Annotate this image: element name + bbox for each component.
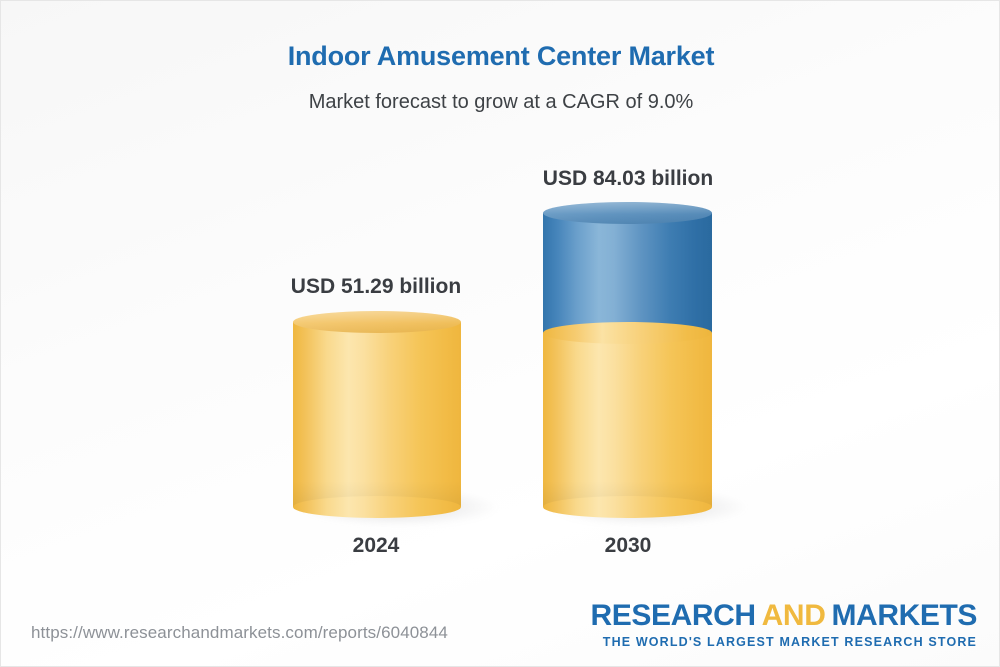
logo-word-research: RESEARCH xyxy=(591,599,756,632)
bar-category-label-2024: 2024 xyxy=(276,534,476,558)
chart-canvas: Indoor Amusement Center Market Market fo… xyxy=(0,0,1000,667)
bar-bottom-cap-2024 xyxy=(293,496,461,518)
report-url[interactable]: https://www.researchandmarkets.com/repor… xyxy=(31,623,448,643)
bar-value-label-2024: USD 51.29 billion xyxy=(256,275,496,299)
bar-body-lower-2030 xyxy=(543,333,712,507)
logo-word-markets: MARKETS xyxy=(831,599,977,632)
bar-top-cap-2030 xyxy=(543,202,712,224)
bar-category-label-2030: 2030 xyxy=(528,534,728,558)
logo-tagline: THE WORLD'S LARGEST MARKET RESEARCH STOR… xyxy=(591,635,977,649)
logo-wordmark: RESEARCHANDMARKETS xyxy=(591,601,977,631)
bar-segment-divider-2030 xyxy=(543,322,712,344)
bar-body-2024 xyxy=(293,322,461,507)
research-and-markets-logo[interactable]: RESEARCHANDMARKETS THE WORLD'S LARGEST M… xyxy=(591,601,977,649)
bar-value-label-2030: USD 84.03 billion xyxy=(506,167,750,191)
logo-word-and: AND xyxy=(762,599,826,632)
bar-top-cap-sheen-2030 xyxy=(543,202,712,224)
bar-bottom-cap-2030 xyxy=(543,496,712,518)
bar-body-upper-2030 xyxy=(543,213,712,333)
bar-top-cap-2024 xyxy=(293,311,461,333)
bar-top-cap-sheen-2024 xyxy=(293,311,461,333)
chart-plot-area: USD 51.29 billion 2024 USD 84.03 billion xyxy=(1,1,1000,601)
